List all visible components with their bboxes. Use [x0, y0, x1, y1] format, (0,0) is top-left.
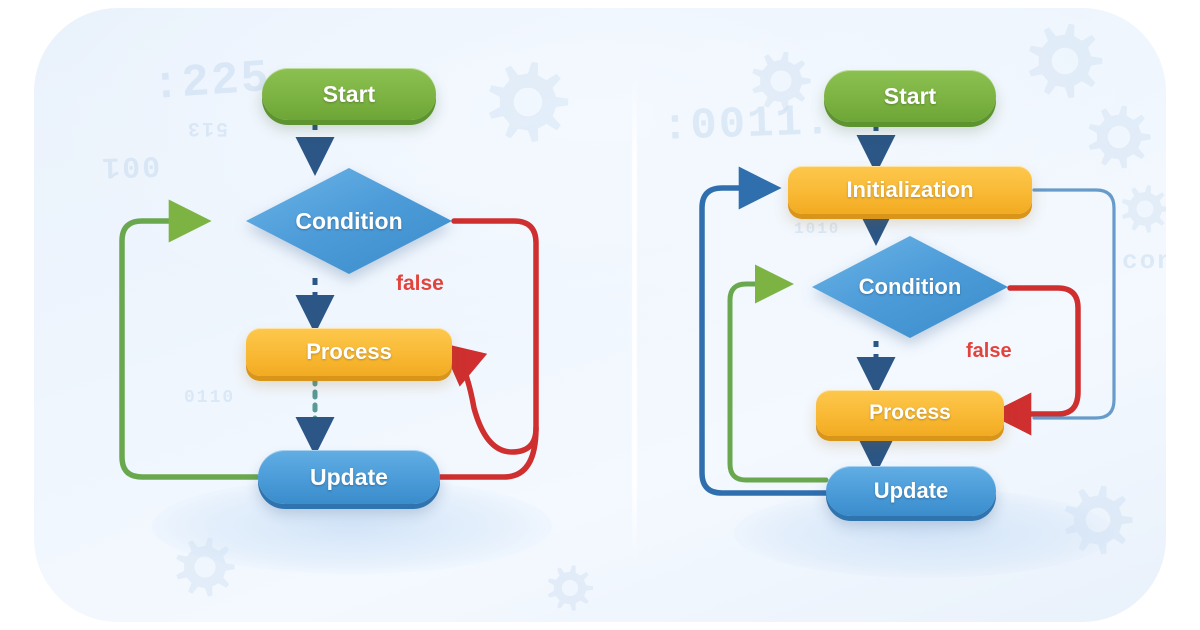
edge-false-branch-to-update	[440, 428, 536, 477]
node-label: Update	[310, 464, 388, 491]
diagram-card: :225513001:0011.con01101010	[34, 8, 1166, 622]
gear-icon-ring-left	[750, 50, 812, 112]
screenshot-root: :225513001:0011.con01101010	[0, 0, 1200, 630]
gear-icon-top-right-b	[1086, 104, 1152, 170]
edge-condition-false-to-process	[454, 221, 536, 452]
gear-icon-top-left-mid	[486, 60, 570, 144]
edge-update-back-to-condition	[122, 221, 258, 477]
node-label: Start	[884, 83, 936, 110]
gear-icon-bottom-left	[174, 536, 236, 598]
node-label: Start	[323, 81, 375, 108]
node-label: Process	[869, 401, 951, 425]
node-l-process[interactable]: Process	[246, 328, 452, 376]
watermark-digits-0011: :0011.	[661, 97, 833, 153]
edge-label-false-left: false	[396, 272, 444, 296]
watermark-digits-001: 001	[99, 147, 160, 183]
node-l-start[interactable]: Start	[262, 68, 436, 120]
gear-icon-bottom-right	[1062, 484, 1134, 556]
node-label: Condition	[812, 236, 1008, 338]
panel-divider	[632, 70, 637, 570]
node-r-update[interactable]: Update	[826, 466, 996, 516]
node-r-init[interactable]: Initialization	[788, 166, 1032, 214]
watermark-digits-0110: 0110	[184, 388, 235, 408]
node-label: Condition	[246, 168, 452, 274]
node-label: Update	[874, 478, 949, 504]
gear-icon-mid-right	[1120, 184, 1166, 234]
node-l-update[interactable]: Update	[258, 450, 440, 504]
watermark-text-con: con	[1122, 246, 1166, 276]
node-r-condition[interactable]: Condition	[812, 236, 1008, 338]
watermark-digits-513: 513	[186, 116, 228, 139]
watermark-digits-225: :225	[150, 52, 272, 112]
edge-label-false-right: false	[966, 340, 1012, 363]
edge-condition-false-to-process	[1006, 288, 1078, 414]
edge-update-back-to-initialization	[702, 188, 826, 493]
gear-icon-bottom-mid	[546, 564, 594, 612]
edge-initialization-outer-to-process	[1034, 190, 1114, 418]
node-r-process[interactable]: Process	[816, 390, 1004, 436]
node-r-start[interactable]: Start	[824, 70, 996, 122]
node-label: Process	[306, 339, 392, 365]
node-label: Initialization	[846, 177, 973, 203]
node-l-condition[interactable]: Condition	[246, 168, 452, 274]
gear-icon-top-right-a	[1026, 22, 1104, 100]
